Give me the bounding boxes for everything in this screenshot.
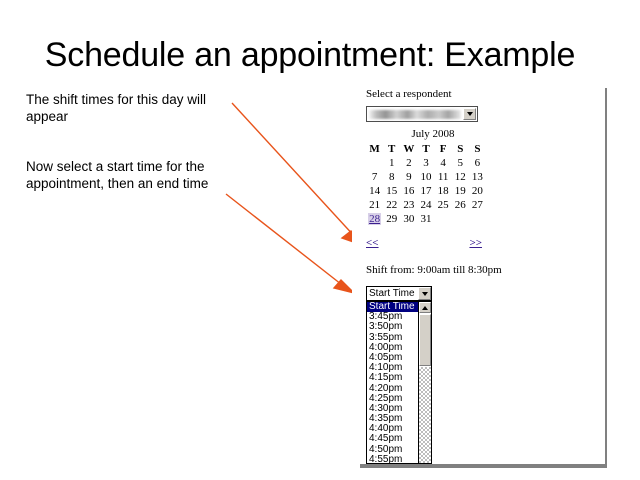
calendar-day[interactable]: 22: [383, 198, 400, 212]
weekday-header: T: [383, 142, 400, 156]
calendar-day[interactable]: 30: [400, 212, 417, 226]
calendar-day[interactable]: 4: [435, 156, 452, 170]
start-time-option-list[interactable]: Start Time3:45pm3:50pm3:55pm4:00pm4:05pm…: [367, 302, 418, 463]
calendar-week-row: 14151617181920: [366, 184, 486, 198]
calendar-day[interactable]: 31: [417, 212, 434, 226]
calendar-day[interactable]: 21: [366, 198, 383, 212]
callout-shift-times: The shift times for this day will appear: [26, 91, 241, 125]
calendar-day[interactable]: 25: [435, 198, 452, 212]
calendar-next-link[interactable]: >>: [469, 237, 482, 249]
calendar-day[interactable]: 24: [417, 198, 434, 212]
calendar-day-empty: [366, 156, 383, 170]
calendar-day[interactable]: 14: [366, 184, 383, 198]
calendar-day[interactable]: 2: [400, 156, 417, 170]
weekday-header: S: [452, 142, 469, 156]
respondent-label: Select a respondent: [366, 88, 452, 100]
calendar-day[interactable]: 27: [469, 198, 486, 212]
triangle-up-icon[interactable]: [419, 302, 431, 313]
calendar-day-selected[interactable]: 28: [366, 212, 383, 226]
calendar-day[interactable]: 29: [383, 212, 400, 226]
calendar-day[interactable]: 9: [400, 170, 417, 184]
calendar-nav: << >>: [366, 237, 482, 249]
calendar-day[interactable]: 7: [366, 170, 383, 184]
calendar-day[interactable]: 5: [452, 156, 469, 170]
calendar-day-empty: [435, 212, 452, 226]
callout-select-start-time: Now select a start time for the appointm…: [26, 158, 241, 192]
calendar-prev-link[interactable]: <<: [366, 237, 379, 249]
calendar-table: M T W T F S S 12345678910111213141516171…: [366, 142, 486, 226]
calendar-day[interactable]: 19: [452, 184, 469, 198]
start-time-combobox[interactable]: Start Time: [366, 286, 432, 301]
calendar-day[interactable]: 20: [469, 184, 486, 198]
calendar-week-row: 28293031: [366, 212, 486, 226]
weekday-header: T: [417, 142, 434, 156]
arrow-head-2: [334, 280, 354, 293]
start-time-option[interactable]: 4:15pm: [367, 373, 418, 383]
arrow-line-2: [226, 194, 346, 288]
chevron-down-icon[interactable]: [463, 108, 476, 120]
arrow-line-1: [232, 103, 356, 238]
calendar-day[interactable]: 18: [435, 184, 452, 198]
calendar-day[interactable]: 6: [469, 156, 486, 170]
calendar: July 2008 M T W T F S S 1234567891011121…: [366, 128, 486, 226]
shift-hours-text: Shift from: 9:00am till 8:30pm: [366, 264, 502, 276]
calendar-day[interactable]: 23: [400, 198, 417, 212]
calendar-day-empty: [469, 212, 486, 226]
calendar-body: 1234567891011121314151617181920212223242…: [366, 156, 486, 226]
calendar-day[interactable]: 12: [452, 170, 469, 184]
listbox-scrollbar[interactable]: [418, 302, 431, 463]
chevron-down-icon[interactable]: [418, 287, 431, 300]
calendar-day[interactable]: 3: [417, 156, 434, 170]
app-screenshot-panel: Select a respondent July 2008 M T W T F …: [352, 84, 605, 464]
respondent-selected-value: [369, 110, 461, 119]
start-time-listbox[interactable]: Start Time3:45pm3:50pm3:55pm4:00pm4:05pm…: [366, 301, 432, 464]
calendar-day[interactable]: 16: [400, 184, 417, 198]
weekday-header: M: [366, 142, 383, 156]
calendar-week-row: 123456: [366, 156, 486, 170]
calendar-day[interactable]: 17: [417, 184, 434, 198]
calendar-day[interactable]: 11: [435, 170, 452, 184]
start-time-combobox-value: Start Time: [367, 288, 415, 299]
calendar-week-row: 21222324252627: [366, 198, 486, 212]
calendar-day[interactable]: 26: [452, 198, 469, 212]
weekday-header: F: [435, 142, 452, 156]
calendar-day[interactable]: 8: [383, 170, 400, 184]
calendar-day[interactable]: 15: [383, 184, 400, 198]
calendar-day[interactable]: 13: [469, 170, 486, 184]
calendar-day[interactable]: 1: [383, 156, 400, 170]
weekday-header: W: [400, 142, 417, 156]
calendar-day-empty: [452, 212, 469, 226]
scrollbar-track[interactable]: [419, 367, 431, 463]
calendar-month-label: July 2008: [366, 128, 486, 140]
calendar-day[interactable]: 10: [417, 170, 434, 184]
start-time-option[interactable]: 4:55pm: [367, 455, 418, 463]
calendar-week-row: 78910111213: [366, 170, 486, 184]
scrollbar-thumb[interactable]: [419, 314, 431, 366]
weekday-header: S: [469, 142, 486, 156]
respondent-select[interactable]: [366, 106, 478, 122]
page-title: Schedule an appointment: Example: [0, 36, 620, 75]
calendar-weekday-row: M T W T F S S: [366, 142, 486, 156]
